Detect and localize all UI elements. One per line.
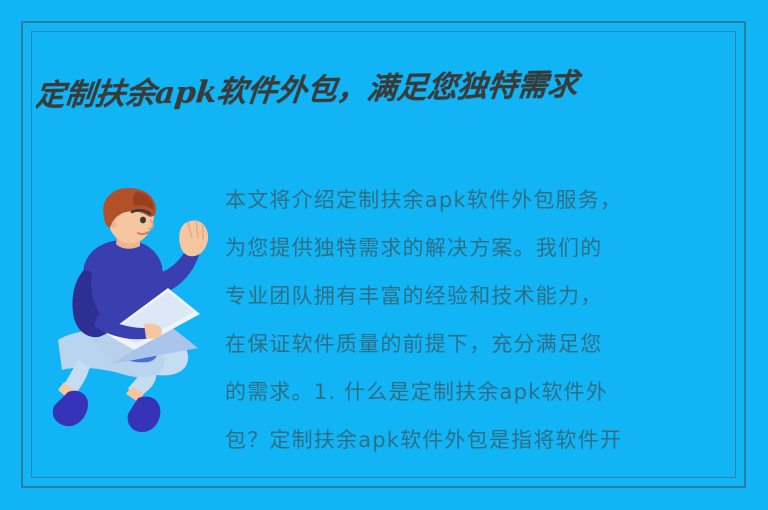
shoe-left [53,391,88,426]
body-line: 为您提供独特需求的解决方案。我们的 [225,224,741,272]
page-title: 定制扶余apk软件外包，满足您独特需求 [36,56,736,118]
body-line: 的需求。1. 什么是定制扶余apk软件外 [225,368,741,416]
body-line: 包？定制扶余apk软件外包是指将软件开 [225,416,741,464]
body-line: 专业团队拥有丰富的经验和技术能力， [225,272,741,320]
body-line: 本文将介绍定制扶余apk软件外包服务， [225,176,741,224]
shoe-right [128,396,161,432]
hero-illustration [48,188,220,436]
poster-canvas: 定制扶余apk软件外包，满足您独特需求 [0,0,768,510]
body-line: 在保证软件质量的前提下，充分满足您 [225,320,741,368]
man-with-laptop-illustration [48,188,220,436]
article-body: 本文将介绍定制扶余apk软件外包服务， 为您提供独特需求的解决方案。我们的 专业… [225,176,741,466]
eye [140,217,146,224]
page-title-text: 定制扶余apk软件外包，满足您独特需求 [36,59,580,114]
